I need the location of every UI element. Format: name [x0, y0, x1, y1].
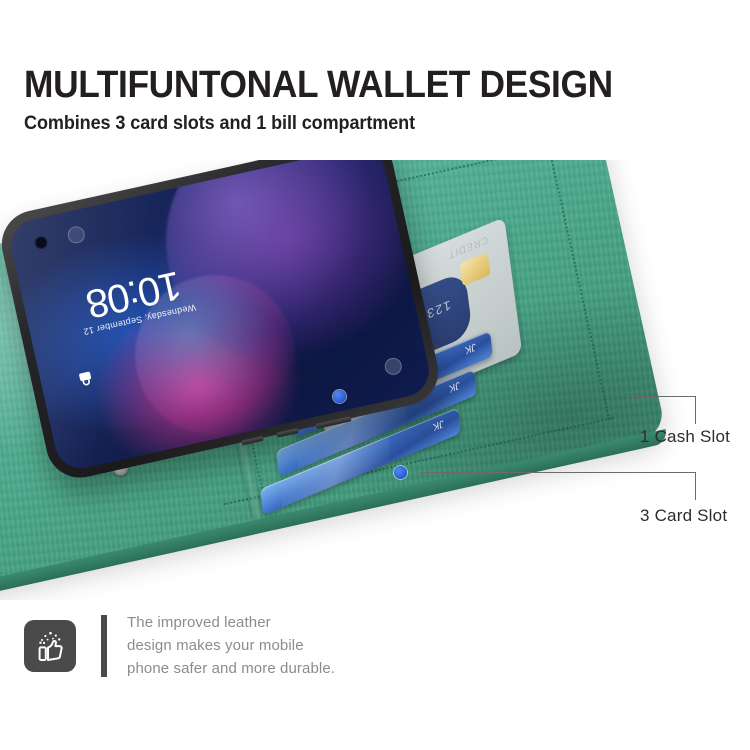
page-subtitle: Combines 3 card slots and 1 bill compart… [24, 113, 689, 135]
feature-description-line-1: The improved leather [127, 612, 335, 635]
card-slot-tag: JK [433, 417, 445, 433]
callout-leader-vertical [695, 396, 696, 424]
callout-leader-horizontal [628, 396, 696, 397]
card-chip-icon [460, 252, 491, 286]
product-photo: CREDIT 1234 5678 1234 GD/DD JK JK JK [0, 160, 700, 600]
card-slot-tag: JK [465, 340, 477, 356]
callout-label-card-slot: 3 Card Slot [640, 506, 727, 526]
feature-description-line-3: phone safer and more durable. [127, 658, 335, 681]
page-title: MULTIFUNTONAL WALLET DESIGN [24, 66, 675, 104]
feature-description-line-2: design makes your mobile [127, 635, 335, 658]
callout-label-cash-slot: 1 Cash Slot [640, 427, 730, 447]
card-slot-tag: JK [449, 378, 461, 394]
callout-anchor-dot [333, 390, 346, 403]
callout-leader-vertical [695, 472, 696, 500]
heading-block: MULTIFUNTONAL WALLET DESIGN Combines 3 c… [24, 66, 724, 135]
feature-description: The improved leather design makes your m… [127, 612, 335, 680]
thumbs-up-glyph [33, 629, 67, 663]
callout-anchor-dot [394, 466, 407, 479]
thumbs-up-icon [24, 620, 76, 672]
feature-block: The improved leather design makes your m… [24, 612, 335, 680]
callout-leader-horizontal [420, 472, 696, 473]
product-marketing-image: MULTIFUNTONAL WALLET DESIGN Combines 3 c… [0, 0, 750, 750]
feature-divider [101, 615, 107, 677]
